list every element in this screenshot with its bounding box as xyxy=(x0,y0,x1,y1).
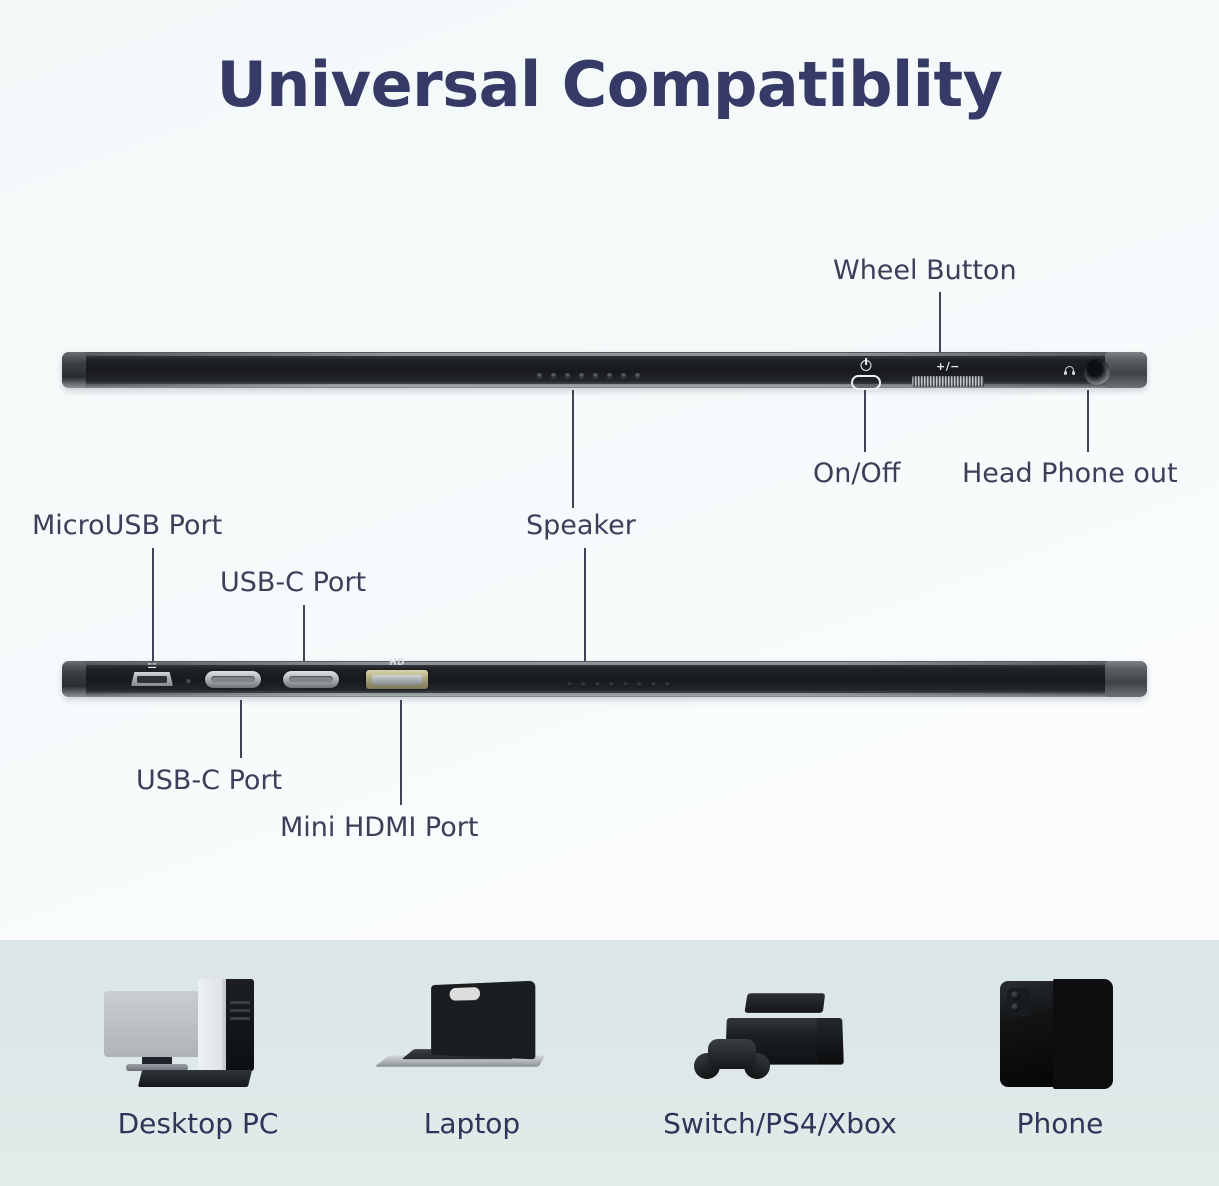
speaker-hole xyxy=(593,373,598,378)
speaker-hole xyxy=(565,373,570,378)
speaker-hole xyxy=(551,373,556,378)
pc-drive-bay xyxy=(230,1009,250,1012)
camera-module xyxy=(1007,988,1031,1016)
speaker-hole xyxy=(609,682,614,687)
callout-speaker: Speaker xyxy=(526,510,636,541)
speaker-hole xyxy=(623,682,628,687)
console-side xyxy=(817,1018,844,1065)
page-title: Universal Compatiblity xyxy=(0,48,1219,121)
leader-line-speaker-lower xyxy=(584,548,586,668)
callout-wheel-button: Wheel Button xyxy=(833,255,1017,286)
kinect-sensor xyxy=(744,993,825,1013)
bar-left-cap xyxy=(62,661,86,697)
speaker-hole xyxy=(537,373,542,378)
power-button[interactable] xyxy=(850,360,882,390)
game-console-icon xyxy=(680,975,880,1093)
leader-line-usbc-port-bottom xyxy=(240,700,242,758)
pc-tower-front xyxy=(226,979,254,1071)
microphone-hole xyxy=(186,679,191,684)
bar-bottom-highlight xyxy=(76,693,1117,696)
microusb-port[interactable]: ⚍ xyxy=(131,672,173,686)
speaker-hole xyxy=(635,373,640,378)
camera-lens xyxy=(1011,1003,1020,1012)
speaker-hole xyxy=(651,682,656,687)
headphone-jack-port[interactable] xyxy=(1064,357,1110,387)
phone-rear xyxy=(1000,981,1054,1087)
compat-item-laptop: Laptop xyxy=(352,975,592,1140)
usbc-port-first[interactable] xyxy=(205,671,261,688)
power-button-pill xyxy=(851,375,881,390)
callout-microusb-port: MicroUSB Port xyxy=(32,510,222,541)
leader-line-microusb-port xyxy=(152,548,154,668)
camera-lens xyxy=(1011,991,1020,1000)
bar-right-cap xyxy=(1105,661,1147,697)
compat-label-phone: Phone xyxy=(940,1107,1180,1140)
laptop-icon xyxy=(372,975,572,1093)
compat-label-game-console: Switch/PS4/Xbox xyxy=(660,1107,900,1140)
leader-line-wheel-button xyxy=(939,292,941,352)
compat-item-game-console: Switch/PS4/Xbox xyxy=(660,975,900,1140)
monitor-shape xyxy=(104,991,210,1057)
hdmi-label: HD xyxy=(389,658,405,668)
pc-drive-bay xyxy=(230,1017,250,1020)
headphone-icon-ear-right xyxy=(1072,371,1075,375)
speaker-hole xyxy=(581,682,586,687)
leader-line-usbc-port-top xyxy=(303,605,305,668)
pc-drive-bay xyxy=(230,1001,250,1004)
microusb-port-slot xyxy=(131,672,173,686)
speaker-hole xyxy=(607,373,612,378)
speaker-hole xyxy=(595,682,600,687)
callout-usbc-port-bottom: USB-C Port xyxy=(136,765,282,796)
pc-tower xyxy=(198,979,254,1071)
headphone-jack-hole xyxy=(1084,359,1110,385)
callout-usbc-port-top: USB-C Port xyxy=(220,567,366,598)
desktop-pc-icon xyxy=(98,975,298,1093)
compat-item-desktop-pc: Desktop PC xyxy=(78,975,318,1140)
callout-headphone-out: Head Phone out xyxy=(962,458,1178,489)
game-controller xyxy=(694,1037,770,1077)
compat-label-laptop: Laptop xyxy=(352,1107,592,1140)
monitor-top-edge xyxy=(62,352,1147,388)
speaker-grille-bottom xyxy=(567,682,670,687)
callout-on-off: On/Off xyxy=(813,458,900,489)
usb-icon: ⚍ xyxy=(147,660,157,671)
leader-line-on-off xyxy=(864,390,866,452)
bar-top-highlight xyxy=(71,353,1138,356)
keyboard-shape xyxy=(138,1070,252,1087)
smartphone-icon xyxy=(960,975,1160,1093)
headphone-icon xyxy=(1064,366,1075,375)
phone-front xyxy=(1053,979,1113,1089)
usbc-port-shell xyxy=(205,671,261,688)
speaker-hole xyxy=(637,682,642,687)
usbc-port-second[interactable] xyxy=(283,671,339,688)
mini-hdmi-port-shell xyxy=(366,670,428,689)
compat-label-desktop-pc: Desktop PC xyxy=(78,1107,318,1140)
leader-line-speaker-upper xyxy=(572,390,574,508)
speaker-hole xyxy=(579,373,584,378)
wheel-ridges[interactable] xyxy=(912,376,984,387)
speaker-grille-top xyxy=(537,373,640,378)
mini-hdmi-port[interactable]: HD xyxy=(366,670,428,689)
usbc-port-shell xyxy=(283,671,339,688)
leader-line-mini-hdmi-port xyxy=(400,700,402,805)
infographic-page: Universal Compatiblity Wheel Button +/− xyxy=(0,0,1219,1186)
power-icon-stem xyxy=(865,358,867,365)
laptop-screen xyxy=(431,981,535,1060)
headphone-icon-ear-left xyxy=(1064,371,1067,375)
bar-top-highlight xyxy=(71,662,1138,665)
wheel-button-control[interactable]: +/− xyxy=(912,361,984,387)
speaker-hole xyxy=(567,682,572,687)
controller-body xyxy=(708,1039,756,1069)
leader-line-headphone-out xyxy=(1087,390,1089,452)
bar-left-cap xyxy=(62,352,86,388)
bar-right-cap xyxy=(1105,352,1147,388)
callout-mini-hdmi-port: Mini HDMI Port xyxy=(280,812,478,843)
speaker-hole xyxy=(621,373,626,378)
compat-item-phone: Phone xyxy=(940,975,1180,1140)
wheel-plus-minus-label: +/− xyxy=(936,360,960,373)
speaker-hole xyxy=(665,682,670,687)
